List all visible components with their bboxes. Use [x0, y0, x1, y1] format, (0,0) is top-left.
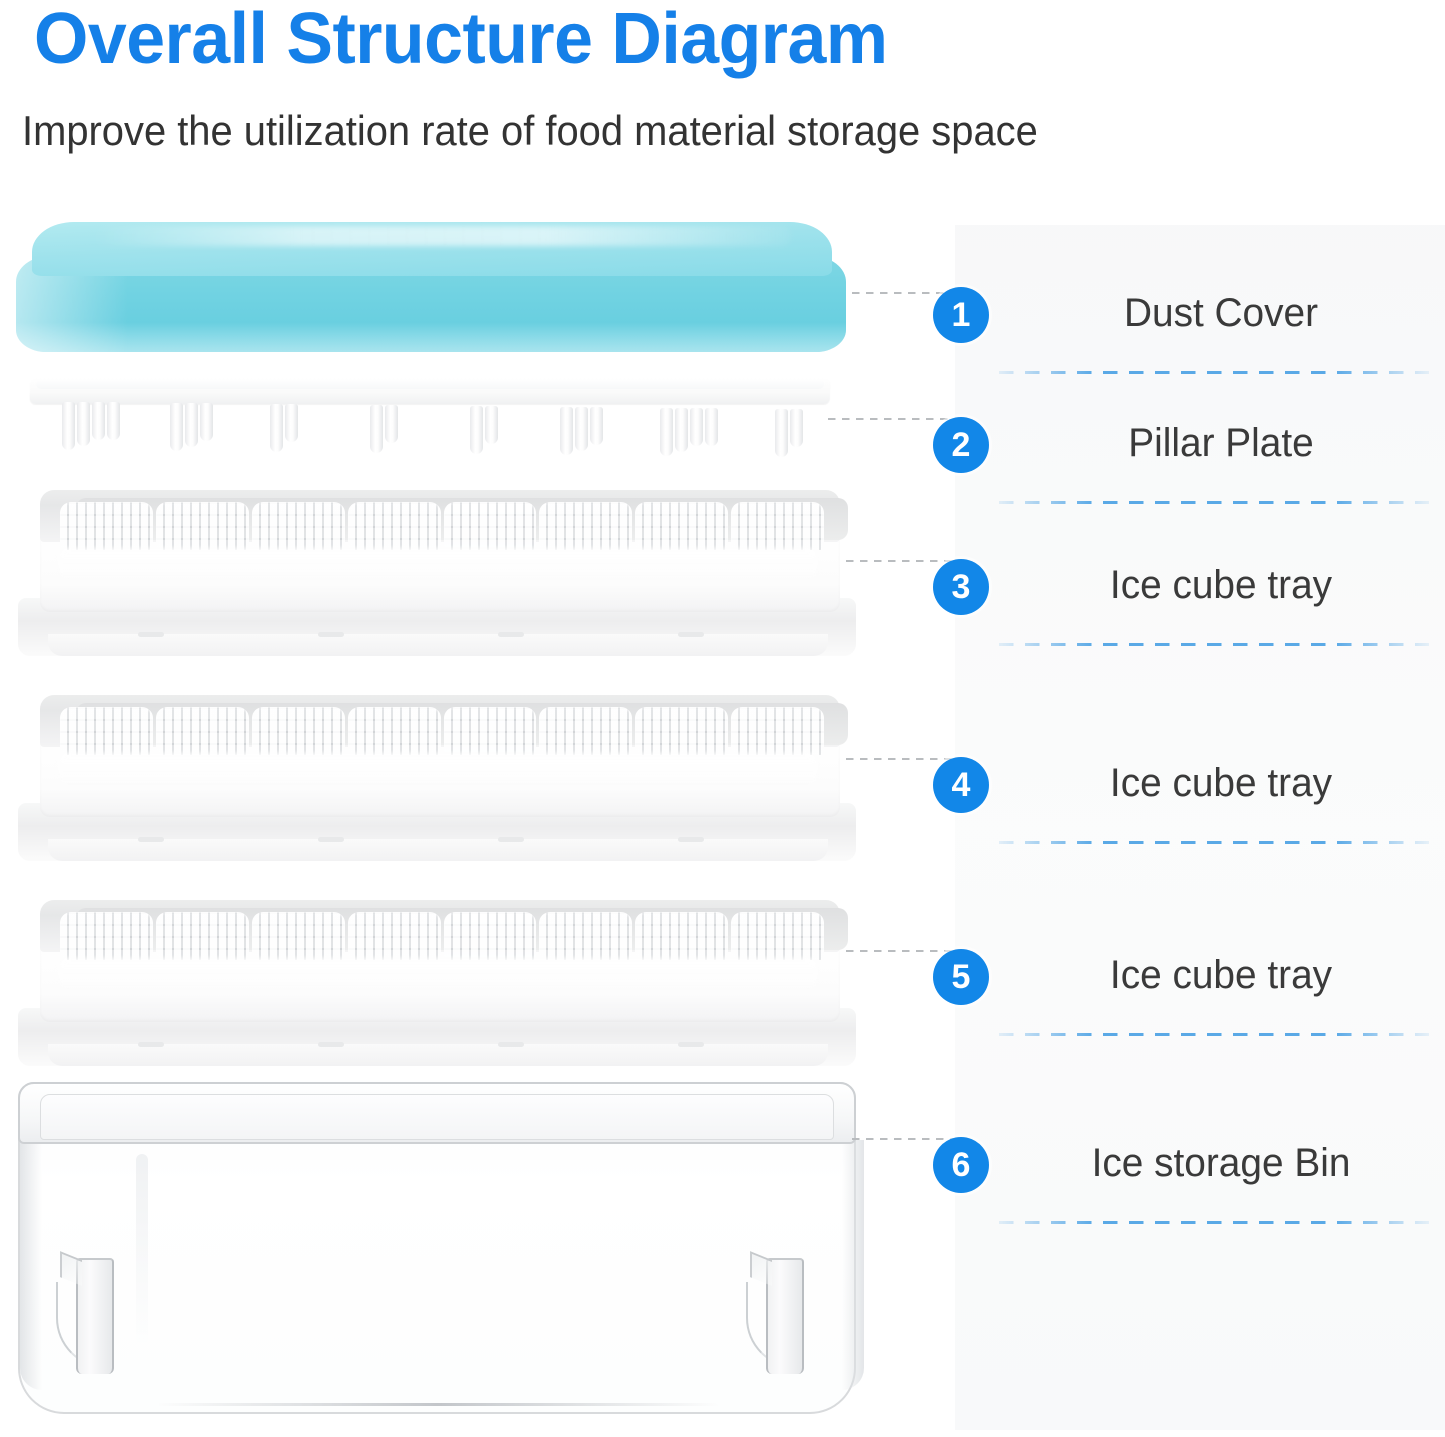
- ice-cube-compartments: [60, 912, 824, 960]
- ice-cube-compartments: [60, 502, 824, 550]
- tray-body-highlight: [58, 753, 818, 789]
- legend-label-5: Ice cube tray: [1017, 945, 1424, 1005]
- tray-notch: [318, 632, 344, 637]
- tray-body-highlight: [58, 548, 818, 584]
- legend-item-ice-cube-tray-2[interactable]: 4 Ice cube tray: [955, 735, 1445, 835]
- bin-handle-left: [60, 1258, 134, 1374]
- leader-line-5: [846, 950, 960, 952]
- part-ice-cube-tray-1: [18, 490, 858, 665]
- ice-cube: [635, 707, 728, 755]
- legend-badge-6: 6: [933, 1137, 989, 1193]
- tray-notch: [138, 632, 164, 637]
- ice-cube: [252, 707, 345, 755]
- header: Overall Structure Diagram Improve the ut…: [0, 0, 1445, 200]
- ice-cube: [731, 502, 824, 550]
- tray-notch: [138, 837, 164, 842]
- tray-base-lip: [48, 839, 828, 861]
- legend-item-ice-cube-tray-1[interactable]: 3 Ice cube tray: [955, 537, 1445, 637]
- dust-cover-top-face: [32, 222, 832, 276]
- ice-cube: [252, 502, 345, 550]
- part-ice-storage-bin: [18, 1082, 866, 1422]
- part-pillar-plate: [30, 378, 840, 450]
- pillar-group: [270, 404, 298, 452]
- legend-label-6: Ice storage Bin: [1017, 1133, 1424, 1193]
- tray-notch: [138, 1042, 164, 1047]
- legend-badge-3: 3: [933, 559, 989, 615]
- tray-notch: [678, 837, 704, 842]
- part-dust-cover: [8, 222, 853, 362]
- tray-notch: [678, 1042, 704, 1047]
- legend-separator-1: [999, 371, 1429, 374]
- bin-handle-right: [750, 1258, 824, 1374]
- ice-cube: [539, 707, 632, 755]
- legend-item-dust-cover[interactable]: 1 Dust Cover: [955, 265, 1445, 365]
- tray-notch: [498, 632, 524, 637]
- ice-cube: [635, 502, 728, 550]
- pillar-plate-slab: [30, 378, 831, 404]
- tray-notch: [318, 837, 344, 842]
- legend-separator-5: [999, 1033, 1429, 1036]
- ice-cube: [444, 707, 537, 755]
- ice-cube: [156, 912, 249, 960]
- tray-body-highlight: [58, 958, 818, 994]
- legend-badge-4: 4: [933, 757, 989, 813]
- legend-separator-2: [999, 501, 1429, 504]
- ice-cube: [731, 707, 824, 755]
- dust-cover-top-highlight: [92, 226, 792, 246]
- leader-line-3: [846, 560, 960, 562]
- pillar-plate-top-surface: [36, 379, 824, 389]
- tray-base-lip: [48, 634, 828, 656]
- pillar-group: [470, 406, 498, 454]
- legend-label-1: Dust Cover: [1017, 283, 1424, 343]
- legend-label-2: Pillar Plate: [1017, 413, 1424, 473]
- part-ice-cube-tray-3: [18, 900, 858, 1075]
- ice-cube: [444, 502, 537, 550]
- pillar-group: [560, 407, 603, 455]
- ice-cube: [60, 502, 153, 550]
- legend-panel: 1 Dust Cover 2 Pillar Plate 3 Ice cube t…: [955, 225, 1445, 1430]
- pillar-group: [170, 403, 213, 451]
- tray-base-lip: [48, 1044, 828, 1066]
- ice-cube: [635, 912, 728, 960]
- leader-line-6: [852, 1138, 960, 1140]
- legend-item-pillar-plate[interactable]: 2 Pillar Plate: [955, 395, 1445, 495]
- tray-notch: [678, 632, 704, 637]
- legend-label-4: Ice cube tray: [1017, 753, 1424, 813]
- ice-cube-compartments: [60, 707, 824, 755]
- ice-cube: [444, 912, 537, 960]
- ice-cube: [348, 707, 441, 755]
- tray-notch: [498, 1042, 524, 1047]
- page-subtitle: Improve the utilization rate of food mat…: [22, 106, 1038, 156]
- legend-badge-2: 2: [933, 417, 989, 473]
- dust-cover-shade: [16, 322, 846, 352]
- ice-cube: [156, 502, 249, 550]
- ice-cube: [539, 502, 632, 550]
- legend-separator-4: [999, 841, 1429, 844]
- ice-cube: [60, 912, 153, 960]
- ice-cube: [348, 912, 441, 960]
- ice-cube: [539, 912, 632, 960]
- bin-wall-left: [20, 1140, 42, 1390]
- pillar-group: [775, 409, 803, 457]
- pillar-group: [660, 408, 718, 456]
- bin-rim-inner: [40, 1094, 834, 1140]
- leader-line-4: [846, 758, 960, 760]
- bin-inner-edge: [136, 1154, 148, 1344]
- legend-badge-1: 1: [933, 287, 989, 343]
- bin-floor-line: [158, 1403, 718, 1406]
- page-title: Overall Structure Diagram: [34, 2, 887, 78]
- ice-cube: [252, 912, 345, 960]
- ice-cube: [348, 502, 441, 550]
- tray-notch: [318, 1042, 344, 1047]
- bin-wall-right: [842, 1140, 864, 1390]
- ice-cube: [60, 707, 153, 755]
- ice-cube: [731, 912, 824, 960]
- part-ice-cube-tray-2: [18, 695, 858, 870]
- pillar-group: [370, 405, 398, 453]
- leader-line-2: [828, 418, 960, 420]
- pillar-group: [62, 402, 120, 450]
- legend-badge-5: 5: [933, 949, 989, 1005]
- legend-separator-6: [999, 1221, 1429, 1224]
- legend-label-3: Ice cube tray: [1017, 555, 1424, 615]
- tray-notch: [498, 837, 524, 842]
- legend-item-ice-cube-tray-3[interactable]: 5 Ice cube tray: [955, 927, 1445, 1027]
- legend-item-ice-storage-bin[interactable]: 6 Ice storage Bin: [955, 1115, 1445, 1215]
- ice-cube: [156, 707, 249, 755]
- legend-separator-3: [999, 643, 1429, 646]
